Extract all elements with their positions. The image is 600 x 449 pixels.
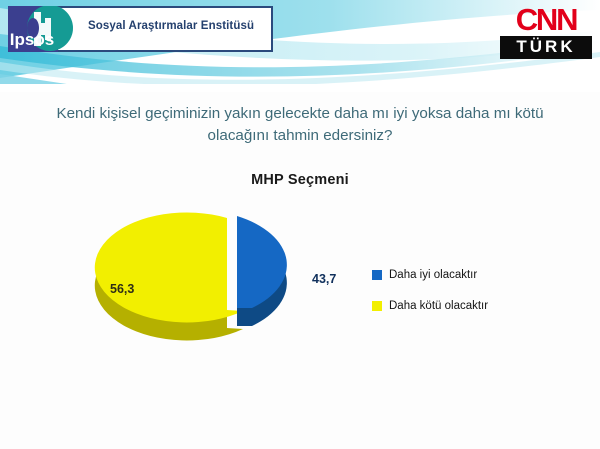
legend-swatch-yellow-icon xyxy=(372,301,382,311)
pie-value-label-daha-kotu: 56,3 xyxy=(110,282,134,296)
svg-text:Ipsos: Ipsos xyxy=(10,30,54,49)
cnn-turk-logo: CNN TÜRK xyxy=(500,4,592,58)
chart-legend: Daha iyi olacaktır Daha kötü olacaktır xyxy=(372,268,532,330)
cnn-wordmark: CNN xyxy=(500,4,592,35)
question-title: Kendi kişisel geçiminizin yakın gelecekt… xyxy=(40,103,560,147)
pie-value-label-daha-iyi: 43,7 xyxy=(312,272,336,286)
ipsos-face-mark-icon: Ipsos xyxy=(8,6,76,52)
legend-label-daha-iyi: Daha iyi olacaktır xyxy=(389,268,477,283)
legend-swatch-blue-icon xyxy=(372,270,382,280)
question-line-1: Kendi kişisel geçiminizin yakın gelecekt… xyxy=(56,105,510,122)
pie-slice-daha-iyi xyxy=(237,216,287,326)
pie-chart: 43,7 56,3 xyxy=(80,210,380,385)
chart-title: MHP Seçmeni xyxy=(0,172,600,188)
ipsos-logo-box: Ipsos Sosyal Araştırmalar Enstitüsü xyxy=(8,6,273,52)
slide-canvas: Ipsos Sosyal Araştırmalar Enstitüsü CNN … xyxy=(0,0,600,449)
pie-slice-daha-kotu xyxy=(95,212,243,340)
legend-item-daha-kotu: Daha kötü olacaktır xyxy=(372,299,532,314)
legend-item-daha-iyi: Daha iyi olacaktır xyxy=(372,268,532,283)
turk-wordmark: TÜRK xyxy=(500,36,592,59)
legend-label-daha-kotu: Daha kötü olacaktır xyxy=(389,299,488,314)
pie-chart-svg xyxy=(80,210,380,385)
ipsos-caption: Sosyal Araştırmalar Enstitüsü xyxy=(88,20,254,32)
